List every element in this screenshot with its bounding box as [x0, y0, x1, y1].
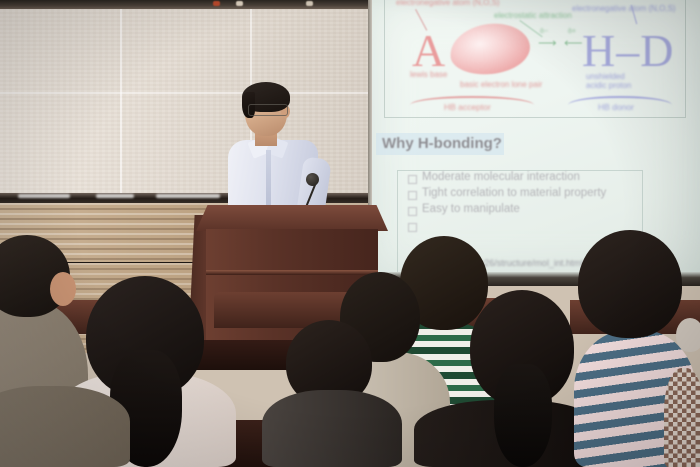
label-unshielded: unshielded: [586, 72, 625, 81]
audience-torso: [262, 390, 402, 467]
bullet-item-2: Tight correlation to material property: [422, 187, 606, 199]
trim-reflection: [96, 194, 134, 198]
label-acidic-proton: acidic proton: [586, 81, 631, 90]
slide-heading: Why H-bonding?: [382, 135, 502, 152]
bullet-item-3: Easy to manipulate: [422, 203, 520, 215]
label-hb-donor: HB donor: [598, 102, 634, 112]
microphone-icon: [306, 173, 319, 186]
diagram-label-electronegative-right: electronegative atom (N,O,S): [572, 4, 676, 13]
trim-reflection: [156, 194, 220, 198]
podium-top: [196, 205, 388, 231]
charge-label-negative: δ−: [540, 28, 548, 35]
audience-torso: [664, 368, 700, 467]
trim-reflection: [18, 194, 70, 198]
bullet-checkbox-icon: [408, 175, 417, 184]
ceiling-band: [0, 0, 372, 9]
audience-ponytail: [494, 364, 552, 467]
attraction-arrow-right: ⟶: [538, 36, 557, 49]
audience-ear: [50, 272, 76, 306]
ceiling-light: [236, 1, 243, 6]
audience-shoulder: [676, 318, 700, 352]
speaker-glasses: [248, 104, 288, 116]
wall-seam: [0, 92, 372, 94]
ceiling-light: [306, 1, 313, 6]
lecture-hall-photo: electronegative atom (N,O,S) electronega…: [0, 0, 700, 467]
label-hb-acceptor: HB acceptor: [444, 102, 491, 112]
bullet-checkbox-icon: [408, 223, 417, 232]
bullet-item-1: Moderate molecular interaction: [422, 171, 580, 183]
audience-head: [578, 230, 682, 338]
diagram-label-electrostatic-attraction: electrostatic attraction: [494, 11, 572, 20]
bullet-checkbox-icon: [408, 207, 417, 216]
charge-label-positive: δ+: [568, 28, 576, 35]
ceiling-light: [213, 1, 220, 6]
attraction-arrow-left: ⟵: [564, 36, 583, 49]
audience-torso: [0, 386, 130, 467]
speaker-shirt-placket: [266, 150, 271, 212]
label-basic-electron-lone-pair: basic electron lone pair: [460, 80, 542, 89]
label-lewis-base: lewis base: [410, 70, 447, 79]
podium-ridge: [206, 270, 378, 275]
diagram-label-electronegative-left: electronegative atom (N,O,S): [396, 0, 500, 7]
atom-label-acceptor: A: [412, 28, 445, 74]
wall-seam: [120, 0, 122, 196]
atom-label-donor: H–D: [582, 28, 674, 74]
bullet-checkbox-icon: [408, 191, 417, 200]
